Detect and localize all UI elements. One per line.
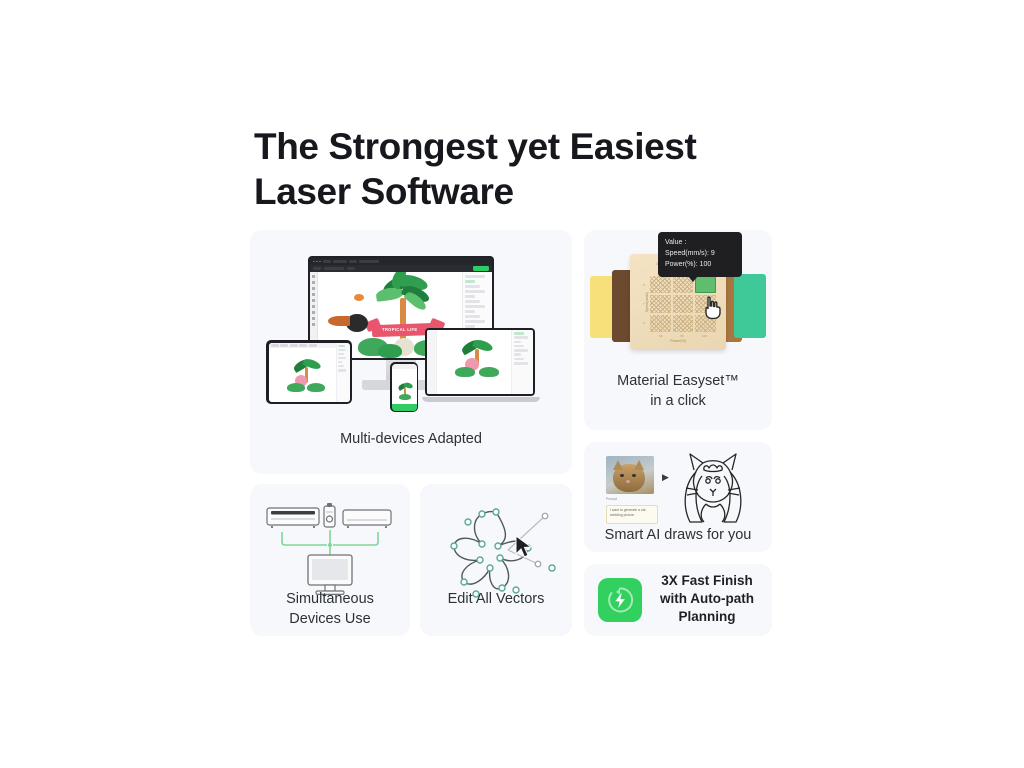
laptop-screen bbox=[427, 330, 533, 394]
ai-generated-line-art bbox=[676, 448, 750, 526]
fast-finish-text: 3X Fast Finish with Auto-path Planning bbox=[650, 572, 764, 626]
fast-line-2: with Auto-path bbox=[650, 590, 764, 608]
easyset-caption-line-2: in a click bbox=[584, 392, 772, 412]
laptop-artwork bbox=[437, 330, 511, 394]
anchor-points bbox=[451, 509, 555, 597]
grid-cell[interactable] bbox=[650, 315, 671, 332]
grid-cell[interactable] bbox=[650, 276, 671, 293]
menu-chip bbox=[349, 260, 357, 263]
window-dots-icon bbox=[313, 261, 321, 263]
x-tick: 80 bbox=[680, 334, 683, 338]
toolbar-chip bbox=[347, 267, 355, 270]
phone-action-bar[interactable] bbox=[392, 404, 417, 411]
source-cat-photo bbox=[606, 456, 654, 494]
prompt-label: Prompt bbox=[606, 497, 617, 501]
tablet-screen bbox=[269, 343, 350, 402]
laptop-base bbox=[422, 397, 540, 402]
x-tick: 100 bbox=[702, 334, 707, 338]
easyset-caption-line-1: Material Easyset™ bbox=[584, 372, 772, 392]
card-caption-simultaneous: Simultaneous Devices Use bbox=[250, 590, 410, 629]
card-multi-devices[interactable]: TROPICAL LIFE bbox=[250, 230, 572, 474]
lightning-bolt-icon bbox=[598, 578, 642, 622]
y-tick: 9 bbox=[643, 283, 645, 287]
laptop-device bbox=[422, 328, 540, 404]
card-simultaneous-devices[interactable]: Simultaneous Devices Use bbox=[250, 484, 410, 636]
menu-chip bbox=[323, 260, 331, 263]
menu-chip bbox=[333, 260, 347, 263]
selection-arrow-cursor bbox=[516, 536, 531, 557]
tablet-artwork bbox=[269, 351, 336, 402]
board-x-axis-label: Power(%) bbox=[630, 339, 726, 343]
primary-action-button[interactable] bbox=[473, 266, 489, 271]
banner-text: TROPICAL LIFE bbox=[382, 327, 417, 332]
simul-caption-line-1: Simultaneous bbox=[250, 590, 410, 610]
card-caption-multi-devices: Multi-devices Adapted bbox=[250, 430, 572, 450]
fast-line-3: Planning bbox=[650, 608, 764, 626]
card-fast-finish[interactable]: 3X Fast Finish with Auto-path Planning bbox=[584, 564, 772, 636]
page-title: The Strongest yet Easiest Laser Software bbox=[254, 124, 814, 214]
tablet-device bbox=[266, 340, 352, 404]
menu-chip bbox=[359, 260, 379, 263]
y-tick: 7 bbox=[643, 302, 645, 306]
wire-junction-dot bbox=[328, 543, 332, 547]
headline-line-2: Laser Software bbox=[254, 169, 814, 214]
fast-line-1: 3X Fast Finish bbox=[650, 572, 764, 590]
phone-device bbox=[390, 362, 418, 412]
prompt-text: I want to generate a cat wedding picture… bbox=[610, 508, 654, 519]
arrow-right-icon: ▶ bbox=[662, 472, 669, 483]
board-x-ticks: 60 80 100 bbox=[650, 334, 716, 338]
computer-monitor-icon bbox=[308, 555, 352, 594]
laser-cutter-icon bbox=[343, 510, 391, 528]
card-caption-easyset: Material Easyset™ in a click bbox=[584, 372, 772, 411]
grid-cell-selected[interactable] bbox=[695, 276, 716, 293]
prompt-input[interactable]: I want to generate a cat wedding picture… bbox=[606, 505, 658, 524]
toolbar-chip bbox=[313, 267, 321, 270]
tooltip-speed: Speed(mm/s): 9 bbox=[665, 249, 735, 260]
app-title-bar bbox=[310, 258, 492, 265]
board-y-axis-label: Speed(mm/s) bbox=[645, 292, 649, 312]
x-tick: 60 bbox=[659, 334, 662, 338]
connection-wires bbox=[282, 530, 378, 555]
board-y-ticks: 9 7 5 bbox=[643, 276, 645, 332]
card-material-easyset[interactable]: 3mm Basswood plywood Speed(mm/s) 9 7 5 6… bbox=[584, 230, 772, 430]
card-edit-all-vectors[interactable]: Edit All Vectors bbox=[420, 484, 572, 636]
grid-cell[interactable] bbox=[673, 315, 694, 332]
tooltip-tail-icon bbox=[688, 276, 698, 282]
page-root: The Strongest yet Easiest Laser Software bbox=[0, 0, 1024, 768]
toolbar-chip bbox=[324, 267, 344, 270]
tooltip-power: Power(%): 100 bbox=[665, 260, 735, 271]
app-toolbar bbox=[310, 265, 492, 272]
grid-cell[interactable] bbox=[673, 295, 694, 312]
device-network-diagram bbox=[250, 492, 410, 602]
hand-cursor-icon bbox=[701, 296, 723, 320]
tooltip-title: Value : bbox=[665, 238, 735, 249]
card-caption-vectors: Edit All Vectors bbox=[420, 590, 572, 610]
card-smart-ai[interactable]: Prompt I want to generate a cat wedding … bbox=[584, 442, 772, 552]
y-tick: 5 bbox=[643, 321, 645, 325]
headline-line-1: The Strongest yet Easiest bbox=[254, 126, 696, 167]
swatch-green-acrylic bbox=[734, 274, 766, 338]
card-caption-smart-ai: Smart AI draws for you bbox=[584, 526, 772, 546]
bezier-control-handles bbox=[535, 513, 548, 567]
phone-screen bbox=[392, 364, 417, 411]
grid-cell[interactable] bbox=[650, 295, 671, 312]
simul-caption-line-2: Devices Use bbox=[250, 610, 410, 630]
rotary-attachment-icon bbox=[324, 503, 335, 527]
parameter-tooltip: Value : Speed(mm/s): 9 Power(%): 100 bbox=[658, 232, 742, 277]
laser-engraver-icon bbox=[267, 508, 319, 528]
